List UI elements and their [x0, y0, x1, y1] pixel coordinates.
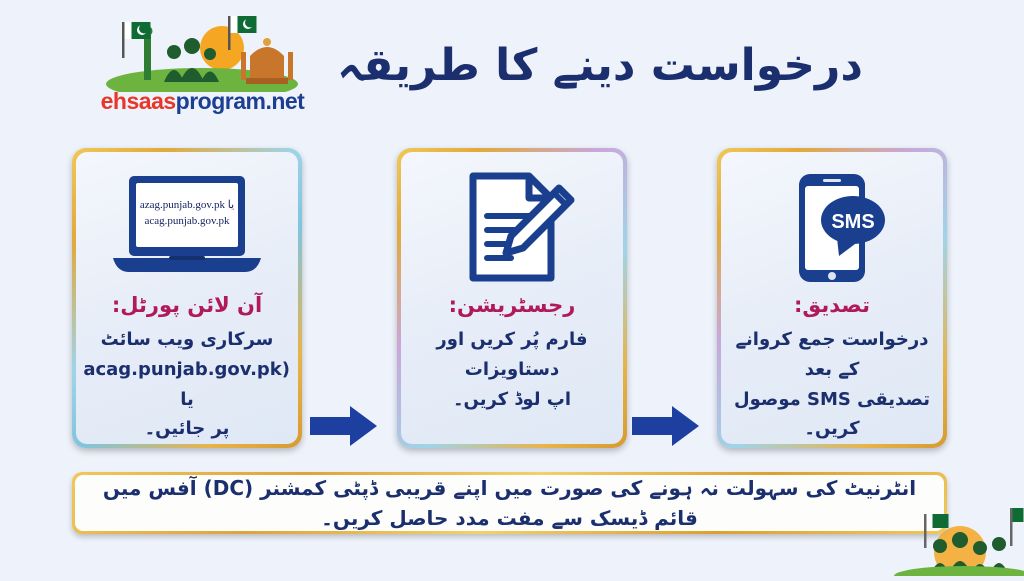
document-pen-icon — [401, 170, 623, 285]
page-title: درخواست دینے کا طریقہ — [300, 36, 900, 95]
step1-heading: آن لائن پورٹل: — [84, 292, 290, 319]
logo-text-tld: .net — [265, 88, 304, 114]
arrow-right-icon-2 — [632, 404, 700, 448]
logo-wordmark: ehsaasprogram.net — [100, 88, 305, 115]
step-card-registration: رجسٹریشن: فارم پُر کریں اور دستاویزات اپ… — [397, 148, 627, 448]
step-card-verification: SMS تصدیق: درخواست جمع کروانے کے بعد تصد… — [717, 148, 947, 448]
laptop-icon: azag.punjab.gov.pk یا acag.punjab.gov.pk — [76, 170, 298, 285]
steps-container: azag.punjab.gov.pk یا acag.punjab.gov.pk… — [0, 148, 1024, 458]
step3-line-1: درخواست جمع کروانے کے بعد — [729, 325, 935, 384]
logo-text-ehsaas: ehsaas — [101, 88, 176, 114]
corner-silhouette-icon — [834, 496, 1024, 576]
footer-note-banner: انٹرنیٹ کی سہولت نہ ہونے کی صورت میں اپن… — [72, 472, 947, 534]
arrow-right-icon-1 — [310, 404, 378, 448]
step1-line-1: سرکاری ویب سائٹ — [84, 325, 290, 355]
logo-artwork-icon — [100, 12, 305, 92]
step2-heading: رجسٹریشن: — [409, 292, 615, 319]
footer-note-text: انٹرنیٹ کی سہولت نہ ہونے کی صورت میں اپن… — [75, 473, 944, 533]
step-card-online-portal: azag.punjab.gov.pk یا acag.punjab.gov.pk… — [72, 148, 302, 448]
laptop-screen-line1: azag.punjab.gov.pk یا — [140, 199, 234, 211]
step1-line-2: (acag.punjab.gov.pk یا — [84, 355, 290, 414]
logo-text-program: program — [176, 88, 266, 114]
sms-label: SMS — [831, 211, 874, 233]
brand-logo: ehsaasprogram.net — [100, 12, 305, 117]
step3-heading: تصدیق: — [729, 292, 935, 319]
sms-phone-icon: SMS — [721, 170, 943, 285]
step2-line-1: فارم پُر کریں اور دستاویزات — [409, 325, 615, 384]
step3-line-2: تصدیقی SMS موصول کریں۔ — [729, 385, 935, 444]
step2-line-2: اپ لوڈ کریں۔ — [409, 385, 615, 415]
laptop-screen-line2: acag.punjab.gov.pk — [144, 215, 230, 227]
page-header: ehsaasprogram.net درخواست دینے کا طریقہ — [0, 0, 1024, 130]
step1-line-3: پر جائیں۔ — [84, 414, 290, 444]
